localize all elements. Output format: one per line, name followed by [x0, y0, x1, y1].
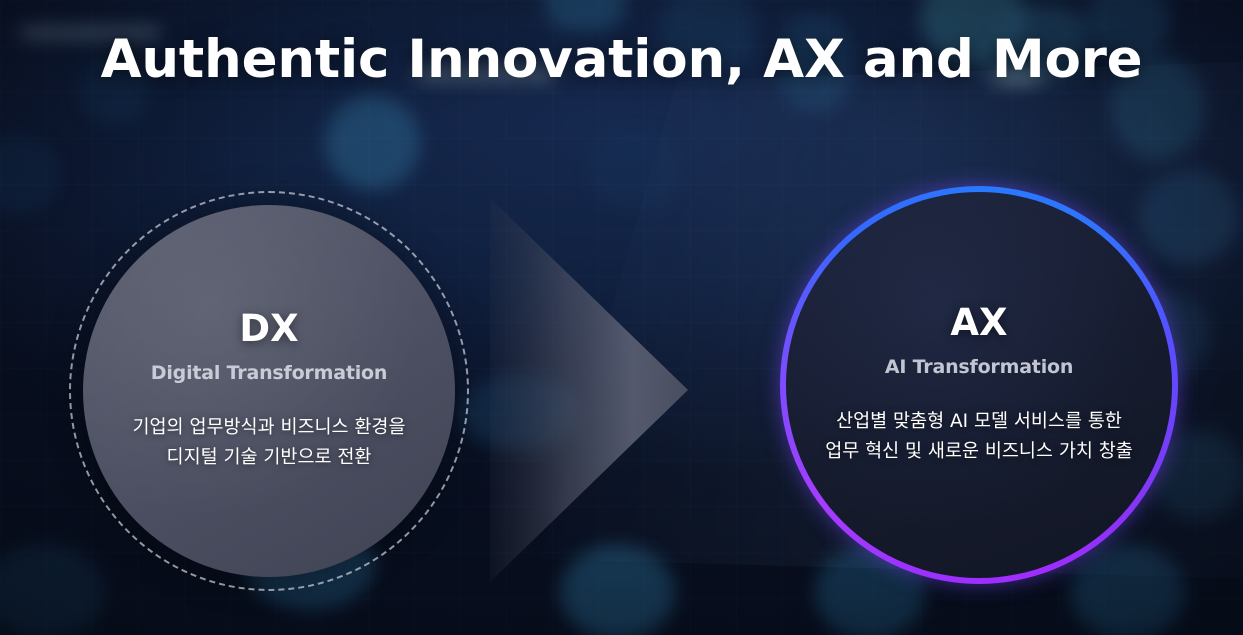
ax-description-line-2: 업무 혁신 및 새로운 비즈니스 가치 창출	[825, 437, 1133, 467]
slide-canvas: Authentic Innovation, AX and More DX Dig…	[0, 0, 1243, 635]
ax-description: 산업별 맞춤형 AI 모델 서비스를 통한 업무 혁신 및 새로운 비즈니스 가…	[825, 407, 1133, 467]
transformation-arrow	[468, 192, 696, 588]
ax-subtitle: AI Transformation	[885, 356, 1073, 378]
dx-description: 기업의 업무방식과 비즈니스 환경을 디지털 기술 기반으로 전환	[133, 413, 406, 473]
card-dx[interactable]: DX Digital Transformation 기업의 업무방식과 비즈니스…	[69, 191, 469, 591]
ax-content: AX AI Transformation 산업별 맞춤형 AI 모델 서비스를 …	[780, 186, 1178, 584]
card-ax[interactable]: AX AI Transformation 산업별 맞춤형 AI 모델 서비스를 …	[780, 186, 1178, 584]
dx-subtitle: Digital Transformation	[151, 362, 387, 384]
dx-description-line-1: 기업의 업무방식과 비즈니스 환경을	[133, 413, 406, 443]
ax-description-line-1: 산업별 맞춤형 AI 모델 서비스를 통한	[825, 407, 1133, 437]
page-title: Authentic Innovation, AX and More	[0, 29, 1243, 90]
dx-circle-body: DX Digital Transformation 기업의 업무방식과 비즈니스…	[83, 205, 455, 577]
dx-title: DX	[239, 310, 298, 347]
dx-description-line-2: 디지털 기술 기반으로 전환	[133, 443, 406, 473]
ax-title: AX	[950, 304, 1007, 341]
